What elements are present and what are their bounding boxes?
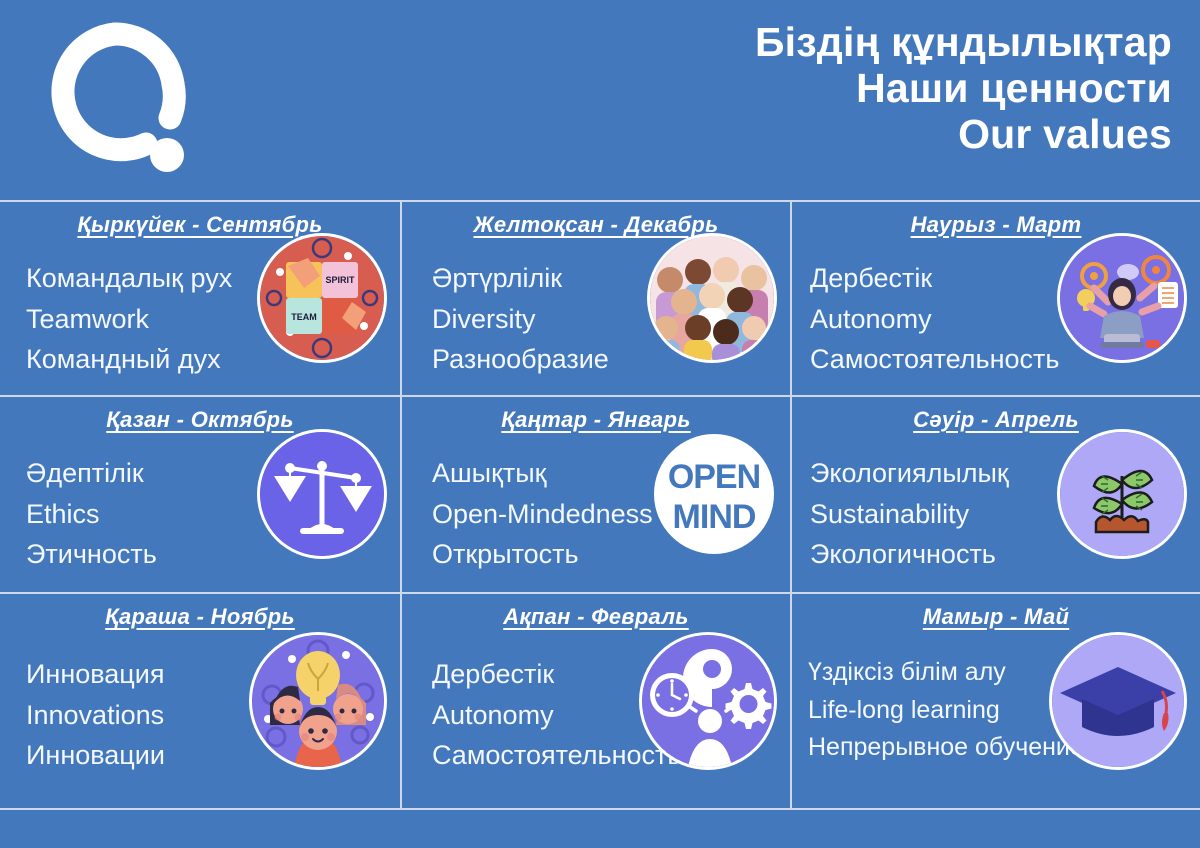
value-russian: Самостоятельность	[432, 735, 678, 776]
value-card-ethics[interactable]: Қазан - Октябрь Әдептілік Ethics Этичнос…	[0, 395, 400, 592]
q-mark-logo	[36, 22, 194, 182]
title-russian: Наши ценности	[472, 66, 1172, 112]
value-kazakh: Үздіксіз білім алу	[808, 654, 1092, 692]
value-russian: Этичность	[26, 534, 276, 575]
value-kazakh: Әртүрлілік	[432, 258, 672, 299]
value-kazakh: Дербестік	[432, 654, 678, 695]
diverse-crowd-icon	[650, 236, 774, 360]
value-english: Life-long learning	[808, 692, 1092, 730]
header: Біздің құндылықтар Наши ценности Our val…	[0, 0, 1200, 200]
value-russian: Инновации	[26, 735, 270, 776]
puzzle-label-team: TEAM	[291, 312, 317, 322]
value-card-sustainability[interactable]: Сәуір - Апрель Экологиялылық Sustainabil…	[790, 395, 1200, 592]
value-kazakh: Командалық рух	[26, 258, 276, 299]
value-card-lifelong-learning[interactable]: Мамыр - Май Үздіксіз білім алу Life-long…	[790, 592, 1200, 810]
value-kazakh: Экологиялылық	[810, 453, 1082, 494]
open-mind-badge-icon: OPEN MIND	[652, 432, 776, 556]
title-kazakh: Біздің құндылықтар	[472, 20, 1172, 66]
value-english: Teamwork	[26, 299, 276, 340]
value-english: Ethics	[26, 494, 276, 535]
card-month-label: Қазан - Октябрь	[0, 407, 400, 433]
card-month-label: Сәуір - Апрель	[792, 407, 1200, 433]
title-english: Our values	[472, 112, 1172, 158]
value-english: Open-Mindedness	[432, 494, 686, 535]
puzzle-label-spirit: SPIRIT	[325, 275, 355, 285]
person-pin-gear-clock-icon	[642, 635, 774, 767]
value-kazakh: Әдептілік	[26, 453, 276, 494]
value-english: Innovations	[26, 695, 270, 736]
sprout-plant-icon	[1060, 432, 1184, 556]
value-russian: Экологичность	[810, 534, 1082, 575]
people-lightbulb-icon	[252, 635, 384, 767]
value-kazakh: Инновация	[26, 654, 270, 695]
value-card-autonomy-march[interactable]: Наурыз - Март Дербестік Autonomy Самосто…	[790, 200, 1200, 395]
card-month-label: Қаңтар - Январь	[402, 407, 790, 433]
value-card-open-mindedness[interactable]: Қаңтар - Январь Ашықтық Open-Mindedness …	[400, 395, 790, 592]
badge-label-mind: MIND	[673, 498, 756, 536]
card-month-label: Желтоқсан - Декабрь	[402, 212, 790, 238]
value-english: Sustainability	[810, 494, 1082, 535]
page-title: Біздің құндылықтар Наши ценности Our val…	[472, 20, 1172, 158]
value-russian: Открытость	[432, 534, 686, 575]
value-russian: Разнообразие	[432, 339, 672, 380]
value-russian: Командный дух	[26, 339, 276, 380]
badge-label-open: OPEN	[668, 458, 760, 496]
value-card-diversity[interactable]: Желтоқсан - Декабрь Әртүрлілік Diversity…	[400, 200, 790, 395]
value-card-autonomy-february[interactable]: Ақпан - Февраль Дербестік Autonomy Самос…	[400, 592, 790, 810]
card-month-label: Мамыр - Май	[792, 604, 1200, 630]
value-russian: Непрерывное обучение	[808, 729, 1092, 767]
multitasking-woman-icon	[1060, 236, 1184, 360]
value-english: Diversity	[432, 299, 672, 340]
puzzle-teamwork-icon: SPIRIT TEAM	[260, 236, 384, 360]
value-kazakh: Ашықтық	[432, 453, 686, 494]
card-month-label: Ақпан - Февраль	[402, 604, 790, 630]
values-grid: Қыркүйек - Сентябрь Командалық рух Teamw…	[0, 200, 1200, 810]
value-card-innovations[interactable]: Қараша - Ноябрь Инновация Innovations Ин…	[0, 592, 400, 810]
balance-scales-icon	[260, 432, 384, 556]
value-card-teamwork[interactable]: Қыркүйек - Сентябрь Командалық рух Teamw…	[0, 200, 400, 395]
value-english: Autonomy	[810, 299, 1082, 340]
infographic-page: Біздің құндылықтар Наши ценности Our val…	[0, 0, 1200, 848]
value-russian: Самостоятельность	[810, 339, 1082, 380]
value-kazakh: Дербестік	[810, 258, 1082, 299]
card-month-label: Қараша - Ноябрь	[0, 604, 400, 630]
card-month-label: Қыркүйек - Сентябрь	[0, 212, 400, 238]
card-month-label: Наурыз - Март	[792, 212, 1200, 238]
graduation-cap-icon	[1052, 635, 1184, 767]
